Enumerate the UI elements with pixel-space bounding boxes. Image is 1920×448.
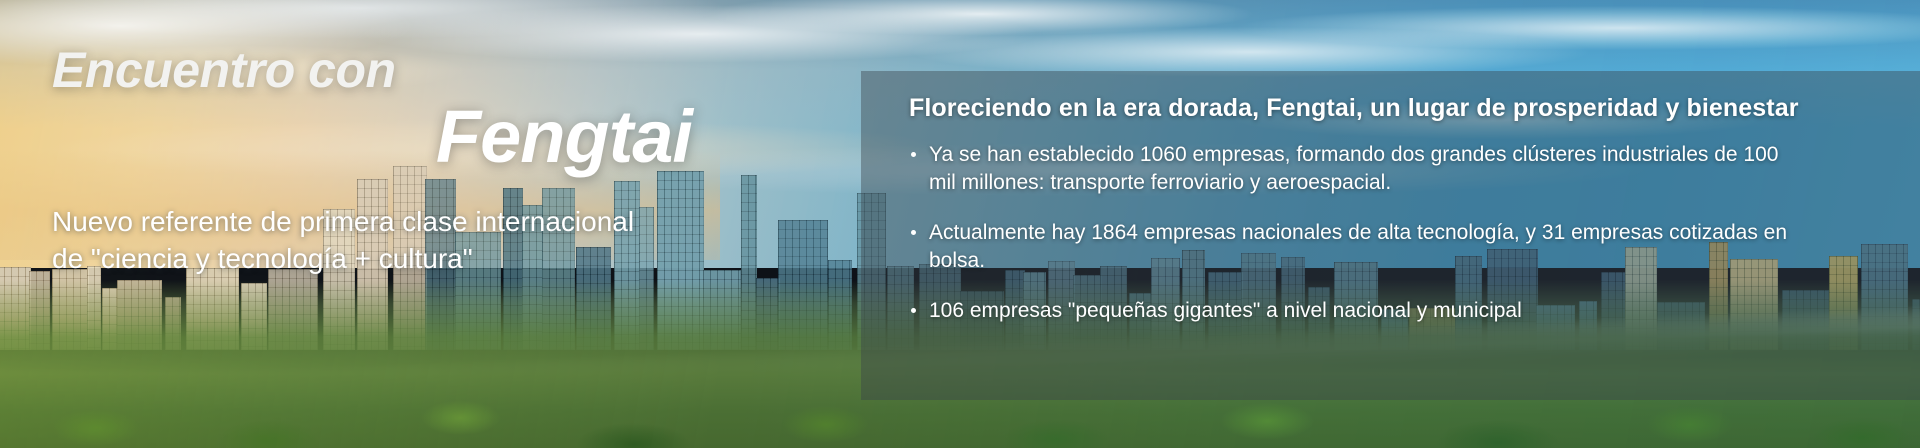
fengtai-promo-banner: Encuentro con Fengtai Nuevo referente de… <box>0 0 1920 448</box>
panel-bullet-text: Ya se han establecido 1060 empresas, for… <box>929 143 1778 194</box>
panel-bullet-text: 106 empresas "pequeñas gigantes" a nivel… <box>929 299 1522 322</box>
hero-subtitle: Nuevo referente de primera clase interna… <box>52 204 692 277</box>
panel-headline: Floreciendo en la era dorada, Fengtai, u… <box>909 93 1868 125</box>
info-panel: Floreciendo en la era dorada, Fengtai, u… <box>861 71 1920 400</box>
hero-text-block: Encuentro con Fengtai Nuevo referente de… <box>52 44 692 277</box>
bullet-dot-icon <box>911 308 916 313</box>
panel-bullet-list: Ya se han establecido 1060 empresas, for… <box>909 141 1868 326</box>
hero-title-line2: Fengtai <box>52 99 692 174</box>
hero-title-line1: Encuentro con <box>52 44 692 97</box>
bullet-dot-icon <box>911 152 916 157</box>
panel-bullet-item: Actualmente hay 1864 empresas nacionales… <box>909 219 1809 275</box>
panel-bullet-item: 106 empresas "pequeñas gigantes" a nivel… <box>909 297 1809 325</box>
panel-bullet-text: Actualmente hay 1864 empresas nacionales… <box>929 221 1787 272</box>
panel-bullet-item: Ya se han establecido 1060 empresas, for… <box>909 141 1809 197</box>
bullet-dot-icon <box>911 230 916 235</box>
